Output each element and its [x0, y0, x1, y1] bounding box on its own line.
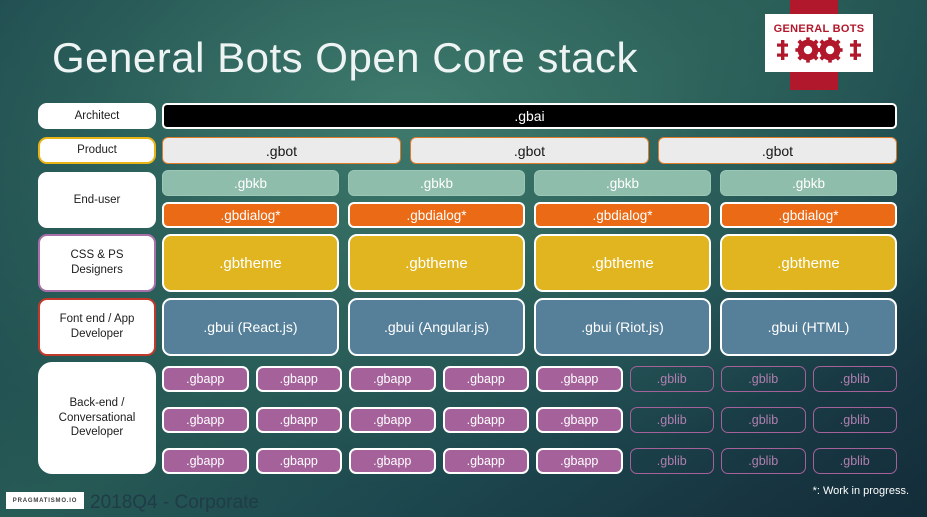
layer-row-gbtheme: .gbtheme .gbtheme .gbtheme .gbtheme	[162, 234, 897, 292]
matrix-row: .gbapp .gbapp .gbapp .gbapp .gbapp .gbli…	[162, 366, 897, 392]
matrix-row: .gbapp .gbapp .gbapp .gbapp .gbapp .gbli…	[162, 448, 897, 474]
layer-gbkb-item[interactable]: .gbkb	[720, 170, 897, 196]
layer-gbai[interactable]: .gbai	[162, 103, 897, 129]
logo-brand-text: GENERAL BOTS	[774, 24, 865, 35]
role-label-architect: Architect	[38, 103, 156, 129]
pragmatismo-logo: PRAGMATISMO.IO	[6, 492, 84, 509]
layer-gbui-html[interactable]: .gbui (HTML)	[720, 298, 897, 356]
layer-gbapp-item[interactable]: .gbapp	[162, 366, 249, 392]
general-bots-logo: GENERAL BOTS	[765, 14, 873, 72]
role-label-front-end-developer-text: Font end / AppDeveloper	[60, 312, 135, 341]
layer-gblib-item[interactable]: .gblib	[630, 366, 715, 392]
layer-gbtheme-item[interactable]: .gbtheme	[534, 234, 711, 292]
role-label-product-text: Product	[77, 143, 117, 158]
layer-gbapp-item[interactable]: .gbapp	[536, 448, 623, 474]
role-label-back-end-developer: Back-end /ConversationalDeveloper	[38, 362, 156, 474]
role-label-architect-text: Architect	[75, 109, 120, 124]
layer-gblib-item[interactable]: .gblib	[630, 448, 715, 474]
layer-gbapp-item[interactable]: .gbapp	[443, 448, 530, 474]
role-label-css-ps-designers-text: CSS & PSDesigners	[70, 248, 123, 277]
layer-gblib-item[interactable]: .gblib	[721, 407, 806, 433]
gears-logo-icon	[777, 37, 861, 63]
layer-gbtheme-item[interactable]: .gbtheme	[720, 234, 897, 292]
layer-gbapp-item[interactable]: .gbapp	[162, 448, 249, 474]
layer-gbdialog-item[interactable]: .gbdialog*	[534, 202, 711, 228]
layer-gbapp-item[interactable]: .gbapp	[349, 366, 436, 392]
layer-gbkb-item[interactable]: .gbkb	[162, 170, 339, 196]
page-title: General Bots Open Core stack	[52, 34, 638, 82]
slide-canvas: GENERAL BOTS	[0, 0, 927, 517]
layer-gbdialog-item[interactable]: .gbdialog*	[720, 202, 897, 228]
layer-gblib-item[interactable]: .gblib	[813, 407, 898, 433]
layer-gbapp-item[interactable]: .gbapp	[256, 366, 343, 392]
layer-gbapp-item[interactable]: .gbapp	[536, 407, 623, 433]
layer-gbtheme-item[interactable]: .gbtheme	[348, 234, 525, 292]
matrix-row: .gbapp .gbapp .gbapp .gbapp .gbapp .gbli…	[162, 407, 897, 433]
layer-gbapp-item[interactable]: .gbapp	[536, 366, 623, 392]
layer-gbot-item[interactable]: .gbot	[410, 137, 649, 164]
layer-gbdialog-item[interactable]: .gbdialog*	[162, 202, 339, 228]
role-label-css-ps-designers: CSS & PSDesigners	[38, 234, 156, 292]
layer-gblib-item[interactable]: .gblib	[630, 407, 715, 433]
layer-gbui-riot[interactable]: .gbui (Riot.js)	[534, 298, 711, 356]
layer-gbkb-item[interactable]: .gbkb	[348, 170, 525, 196]
layer-row-gbkb: .gbkb .gbkb .gbkb .gbkb	[162, 170, 897, 196]
layer-row-gbui: .gbui (React.js) .gbui (Angular.js) .gbu…	[162, 298, 897, 356]
layer-gbui-react[interactable]: .gbui (React.js)	[162, 298, 339, 356]
layer-row-gbdialog: .gbdialog* .gbdialog* .gbdialog* .gbdial…	[162, 202, 897, 228]
role-label-end-user: End-user	[38, 172, 156, 228]
layer-gbapp-item[interactable]: .gbapp	[256, 448, 343, 474]
layer-gbapp-item[interactable]: .gbapp	[256, 407, 343, 433]
role-label-back-end-developer-text: Back-end /ConversationalDeveloper	[59, 396, 136, 440]
layer-gbui-angular[interactable]: .gbui (Angular.js)	[348, 298, 525, 356]
layer-matrix-gbapp-gblib: .gbapp .gbapp .gbapp .gbapp .gbapp .gbli…	[162, 366, 897, 474]
footer-caption: 2018Q4 - Corporate	[90, 492, 259, 514]
layer-gbapp-item[interactable]: .gbapp	[349, 448, 436, 474]
layer-gbapp-item[interactable]: .gbapp	[443, 407, 530, 433]
layer-row-gbot: .gbot .gbot .gbot	[162, 137, 897, 164]
layer-gbapp-item[interactable]: .gbapp	[349, 407, 436, 433]
role-label-end-user-text: End-user	[74, 193, 121, 208]
role-label-front-end-developer: Font end / AppDeveloper	[38, 298, 156, 356]
pragmatismo-logo-text: PRAGMATISMO.IO	[13, 498, 77, 504]
layer-gblib-item[interactable]: .gblib	[813, 366, 898, 392]
layer-gblib-item[interactable]: .gblib	[721, 448, 806, 474]
layer-gbkb-item[interactable]: .gbkb	[534, 170, 711, 196]
layer-gbapp-item[interactable]: .gbapp	[443, 366, 530, 392]
layer-gbot-item[interactable]: .gbot	[162, 137, 401, 164]
layer-gbapp-item[interactable]: .gbapp	[162, 407, 249, 433]
layer-gblib-item[interactable]: .gblib	[721, 366, 806, 392]
layer-gblib-item[interactable]: .gblib	[813, 448, 898, 474]
layer-gbot-item[interactable]: .gbot	[658, 137, 897, 164]
layer-gbtheme-item[interactable]: .gbtheme	[162, 234, 339, 292]
layer-gbdialog-item[interactable]: .gbdialog*	[348, 202, 525, 228]
role-label-product: Product	[38, 137, 156, 164]
footnote-work-in-progress: *: Work in progress.	[813, 485, 909, 497]
